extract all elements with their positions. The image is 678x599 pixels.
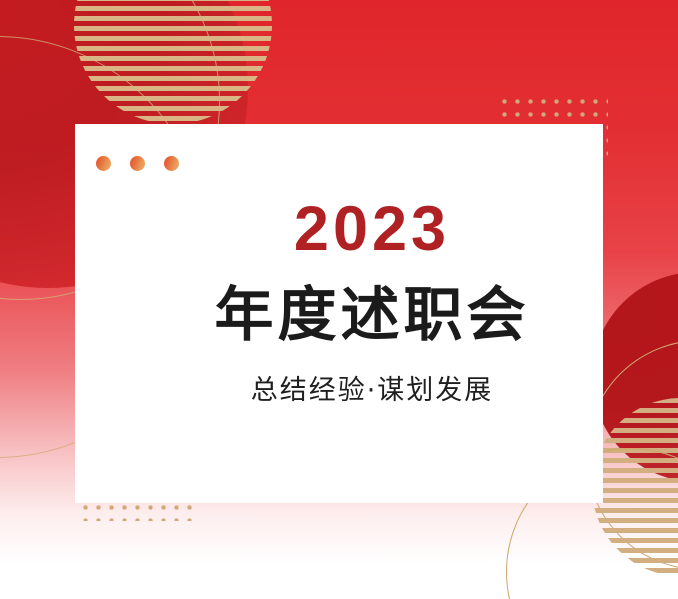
content-card: 2023 年度述职会 总结经验·谋划发展 bbox=[75, 124, 603, 503]
poster-canvas: 2023 年度述职会 总结经验·谋划发展 bbox=[0, 0, 678, 599]
window-dot-3-icon bbox=[164, 156, 179, 171]
page-subtitle: 总结经验·谋划发展 bbox=[141, 376, 603, 406]
page-title: 年度述职会 bbox=[141, 283, 603, 347]
card-text-block: 2023 年度述职会 总结经验·谋划发展 bbox=[75, 198, 603, 405]
window-dot-1-icon bbox=[96, 156, 111, 171]
year-label: 2023 bbox=[141, 198, 603, 261]
window-dot-2-icon bbox=[130, 156, 145, 171]
window-dots-group bbox=[96, 156, 179, 171]
